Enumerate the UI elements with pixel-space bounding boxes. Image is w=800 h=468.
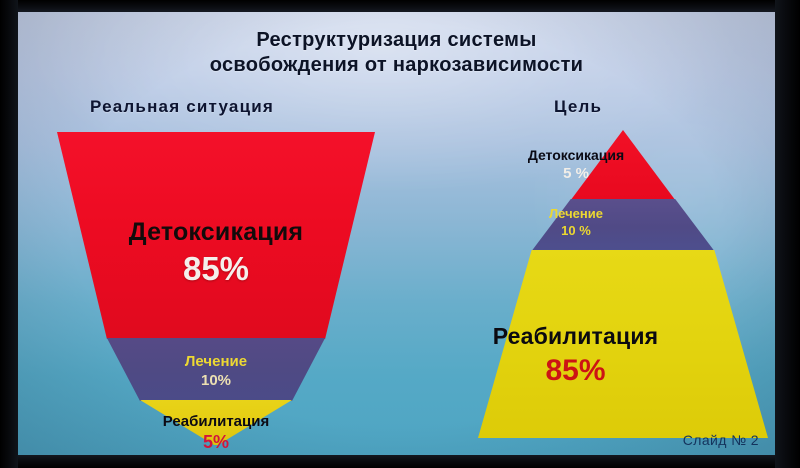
screen-bezel-bottom (0, 455, 800, 468)
slide-title-line-1: Реструктуризация системы (18, 28, 775, 53)
column-heading-current-situation: Реальная ситуация (90, 97, 274, 117)
right-rehabilitation-label: Реабилитация 85% (443, 322, 708, 390)
right-treatment-percent: 10 % (516, 222, 636, 239)
screen-bezel-right (775, 0, 800, 468)
right-rehabilitation-percent: 85% (443, 352, 708, 390)
right-detoxification-name: Детоксикация (496, 147, 656, 164)
column-heading-goal: Цель (554, 97, 602, 117)
left-rehabilitation-name: Реабилитация (126, 413, 306, 431)
left-detoxification-label: Детоксикация 85% (98, 217, 334, 289)
screen-bezel-left (0, 0, 18, 468)
screen-bezel-top (0, 0, 800, 12)
left-rehabilitation-percent: 5% (126, 431, 306, 453)
left-detoxification-name: Детоксикация (98, 217, 334, 247)
right-detoxification-percent: 5 % (496, 164, 656, 183)
left-treatment-label: Лечение 10% (136, 352, 296, 391)
right-treatment-name: Лечение (516, 205, 636, 222)
presentation-slide: Реструктуризация системы освобождения от… (18, 12, 775, 455)
projector-screen-frame: Реструктуризация системы освобождения от… (0, 0, 800, 468)
slide-number-footer: Слайд № 2 (683, 432, 759, 448)
left-treatment-percent: 10% (136, 371, 296, 391)
right-detoxification-label: Детоксикация 5 % (496, 147, 656, 183)
right-rehabilitation-name: Реабилитация (443, 322, 708, 350)
slide-title: Реструктуризация системы освобождения от… (18, 28, 775, 78)
right-treatment-label: Лечение 10 % (516, 205, 636, 239)
left-detoxification-percent: 85% (98, 249, 334, 289)
left-treatment-name: Лечение (136, 352, 296, 371)
left-rehabilitation-label: Реабилитация 5% (126, 413, 306, 453)
slide-title-line-2: освобождения от наркозависимости (18, 53, 775, 78)
